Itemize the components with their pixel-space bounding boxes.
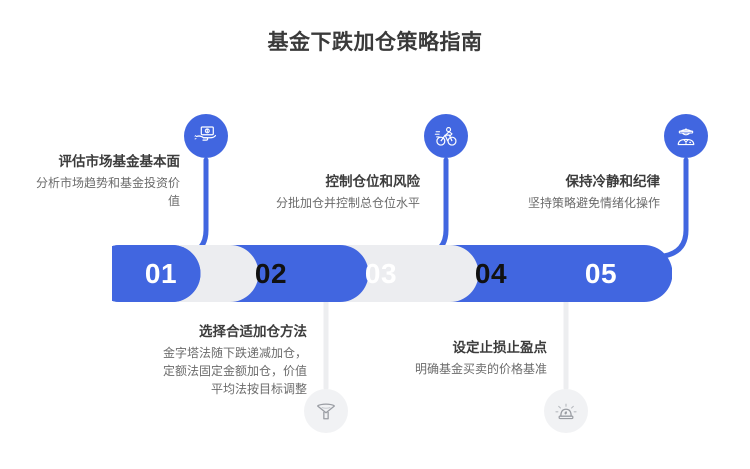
step-heading-1: 评估市场基金基本面 <box>30 152 180 172</box>
infographic-canvas: 基金下跌加仓策略指南 01 02 03 04 05 <box>0 0 750 469</box>
funnel-icon <box>314 399 338 423</box>
step-number-1: 01 <box>116 245 206 302</box>
connector-lines <box>0 0 750 469</box>
step-icon-bubble-1[interactable] <box>184 114 228 158</box>
step-number-4: 04 <box>446 245 536 302</box>
step-text-3: 控制仓位和风险 分批加仓并控制总仓位水平 <box>270 172 420 212</box>
step-icon-bubble-3[interactable] <box>424 114 468 158</box>
connector-line-step-3 <box>424 160 446 256</box>
step-icon-bubble-4[interactable] <box>544 389 588 433</box>
step-description-4: 明确基金买卖的价格基准 <box>397 360 547 378</box>
connector-line-step-5 <box>664 160 686 256</box>
step-number-3: 03 <box>336 245 426 302</box>
police-officer-icon <box>674 124 698 148</box>
step-icon-bubble-2[interactable] <box>304 389 348 433</box>
cyclist-icon <box>434 124 458 148</box>
alarm-siren-icon <box>554 399 578 423</box>
connector-line-step-1 <box>184 160 206 256</box>
money-in-hand-icon <box>194 124 218 148</box>
step-heading-3: 控制仓位和风险 <box>270 172 420 192</box>
step-band: 01 02 03 04 05 <box>112 245 672 302</box>
page-title: 基金下跌加仓策略指南 <box>0 26 750 56</box>
step-description-1: 分析市场趋势和基金投资价值 <box>30 174 180 210</box>
step-text-1: 评估市场基金基本面 分析市场趋势和基金投资价值 <box>30 152 180 210</box>
step-number-5: 05 <box>556 245 646 302</box>
step-number-2: 02 <box>226 245 316 302</box>
step-text-2: 选择合适加仓方法 金字塔法随下跌递减加仓，定额法固定金额加仓，价值平均法按目标调… <box>157 322 307 398</box>
step-heading-5: 保持冷静和纪律 <box>510 172 660 192</box>
step-description-3: 分批加仓并控制总仓位水平 <box>270 194 420 212</box>
step-text-4: 设定止损止盈点 明确基金买卖的价格基准 <box>397 338 547 378</box>
step-description-5: 坚持策略避免情绪化操作 <box>510 194 660 212</box>
step-description-2: 金字塔法随下跌递减加仓，定额法固定金额加仓，价值平均法按目标调整 <box>157 344 307 398</box>
step-text-5: 保持冷静和纪律 坚持策略避免情绪化操作 <box>510 172 660 212</box>
step-heading-2: 选择合适加仓方法 <box>157 322 307 342</box>
step-icon-bubble-5[interactable] <box>664 114 708 158</box>
step-heading-4: 设定止损止盈点 <box>397 338 547 358</box>
